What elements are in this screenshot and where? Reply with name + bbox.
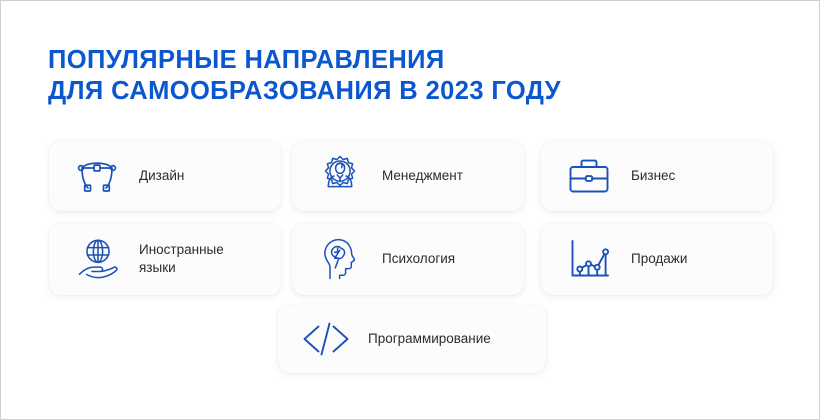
category-card-business[interactable]: Бизнес (541, 141, 773, 211)
category-label-management: Менеджмент (382, 167, 463, 185)
category-label-business: Бизнес (631, 167, 675, 185)
briefcase-icon (563, 152, 615, 200)
category-card-grid: Дизайн Менеджм (1, 1, 820, 420)
category-card-management[interactable]: Менеджмент (292, 141, 524, 211)
category-label-design: Дизайн (139, 167, 184, 185)
category-card-design[interactable]: Дизайн (49, 141, 281, 211)
category-card-languages[interactable]: Иностранные языки (49, 223, 281, 295)
globe-on-hand-icon (71, 235, 123, 283)
head-brain-icon (314, 235, 366, 283)
code-brackets-icon (300, 315, 352, 363)
growth-chart-icon (563, 235, 615, 283)
category-label-languages: Иностранные языки (139, 241, 224, 277)
person-in-gear-icon (314, 152, 366, 200)
category-card-programming[interactable]: Программирование (278, 305, 546, 373)
category-label-sales: Продажи (631, 250, 687, 268)
category-card-psychology[interactable]: Психология (292, 223, 524, 295)
bezier-curve-icon (71, 152, 123, 200)
category-label-psychology: Психология (382, 250, 455, 268)
category-label-programming: Программирование (368, 330, 491, 348)
category-card-sales[interactable]: Продажи (541, 223, 773, 295)
infographic-canvas: ПОПУЛЯРНЫЕ НАПРАВЛЕНИЯ ДЛЯ САМООБРАЗОВАН… (0, 0, 820, 420)
